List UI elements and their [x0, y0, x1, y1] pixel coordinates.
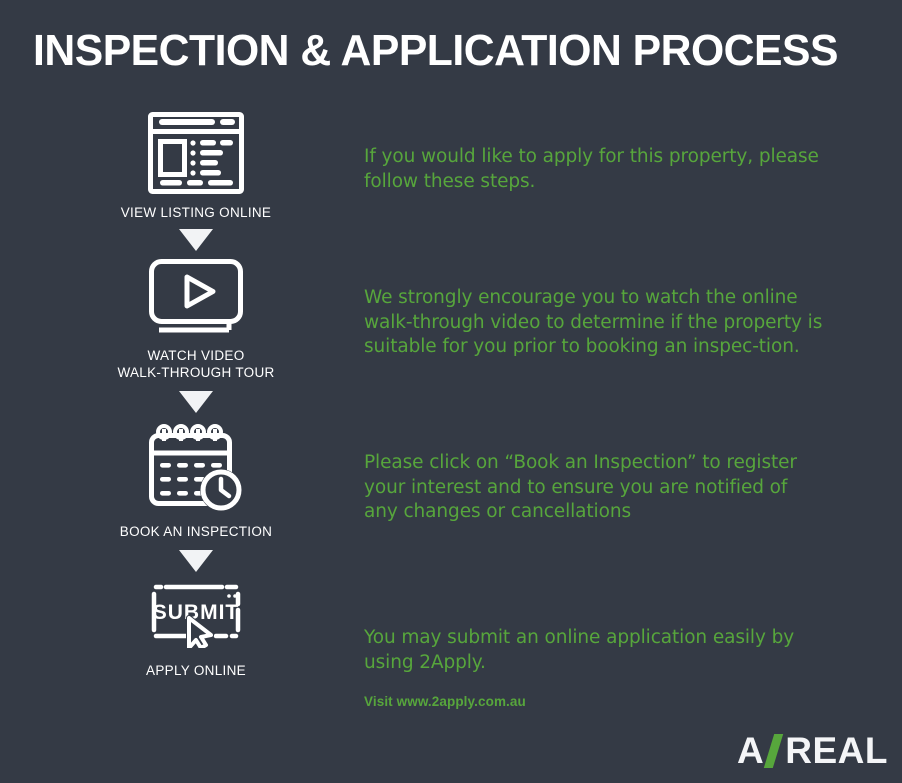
step-label: WATCH VIDEO WALK-THROUGH TOUR — [0, 347, 392, 381]
brand-logo: A REAL — [737, 732, 888, 769]
apply-website-link[interactable]: Visit www.2apply.com.au — [364, 694, 526, 709]
steps-column: VIEW LISTING ONLINE WATCH VIDEO WALK-THR… — [0, 112, 392, 679]
step-book-an-inspection[interactable]: BOOK AN INSPECTION — [0, 421, 392, 540]
video-play-monitor-icon — [0, 259, 392, 337]
logo-text-real: REAL — [785, 732, 888, 769]
step-apply-online[interactable]: SUBMIT APPLY ONLINE — [0, 582, 392, 679]
infographic-page: INSPECTION & APPLICATION PROCESS — [0, 0, 902, 783]
arrow-down-triangle-icon — [0, 550, 392, 572]
listing-window-icon — [0, 112, 392, 194]
logo-text-a: A — [737, 732, 764, 769]
note-view-listing: If you would like to apply for this prop… — [364, 145, 824, 194]
step-label: BOOK AN INSPECTION — [0, 523, 392, 540]
submit-button-cursor-icon: SUBMIT — [0, 582, 392, 648]
step-label-line-2: WALK-THROUGH TOUR — [0, 364, 392, 381]
step-label-line-1: WATCH VIDEO — [0, 347, 392, 364]
note-apply-online: You may submit an online application eas… — [364, 626, 824, 675]
arrow-down-triangle-icon — [0, 229, 392, 251]
note-book-inspection: Please click on “Book an Inspection” to … — [364, 451, 824, 525]
calendar-clock-icon — [0, 421, 392, 513]
step-label: APPLY ONLINE — [0, 662, 392, 679]
page-title: INSPECTION & APPLICATION PROCESS — [33, 26, 838, 76]
slash-mark-icon — [764, 734, 783, 768]
step-watch-video-walkthrough[interactable]: WATCH VIDEO WALK-THROUGH TOUR — [0, 259, 392, 381]
arrow-down-triangle-icon — [0, 391, 392, 413]
step-label: VIEW LISTING ONLINE — [0, 204, 392, 221]
step-view-listing-online[interactable]: VIEW LISTING ONLINE — [0, 112, 392, 221]
note-watch-video: We strongly encourage you to watch the o… — [364, 286, 824, 360]
